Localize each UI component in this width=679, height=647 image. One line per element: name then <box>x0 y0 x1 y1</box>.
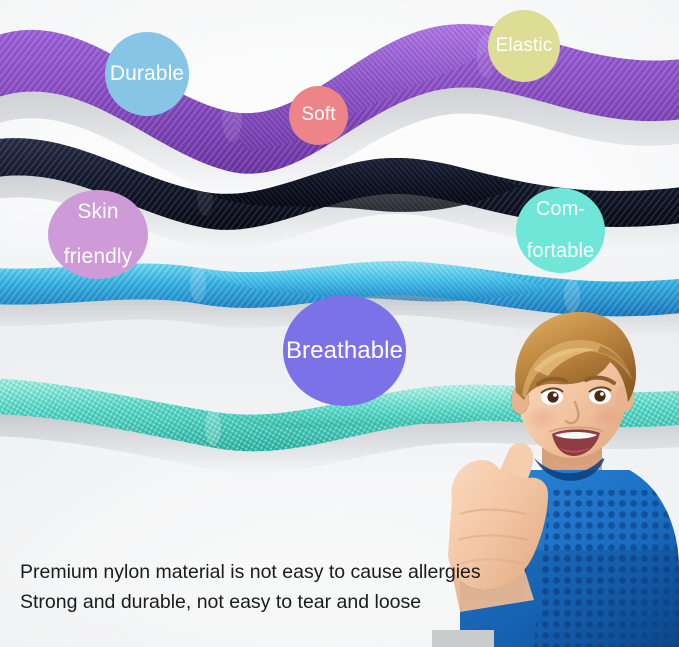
bottom-grey-bar <box>432 630 494 647</box>
badge-label-line-1: Com- <box>524 199 598 220</box>
badge-label-line-1: Skin <box>61 201 136 223</box>
feature-badge-skin-friendly[interactable]: Skin friendly <box>48 190 148 279</box>
product-infographic: Durable Elastic Soft Skin friendly Com- … <box>0 0 679 647</box>
feature-badge-comfortable[interactable]: Com- fortable <box>516 188 605 273</box>
badge-label-line-2: fortable <box>524 241 598 262</box>
feature-badge-soft[interactable]: Soft <box>289 86 348 145</box>
caption-line-1: Premium nylon material is not easy to ca… <box>20 558 490 588</box>
badge-label-line-2: friendly <box>61 246 136 268</box>
badge-label-breathable: Breathable <box>283 338 406 363</box>
feature-badge-elastic[interactable]: Elastic <box>488 10 560 82</box>
badge-label-durable: Durable <box>107 63 187 85</box>
badge-label-skin-friendly: Skin friendly <box>58 201 139 268</box>
badge-label-soft: Soft <box>298 105 338 125</box>
badge-label-comfortable: Com- fortable <box>521 199 601 263</box>
feature-badge-durable[interactable]: Durable <box>105 32 189 116</box>
marketing-caption: Premium nylon material is not easy to ca… <box>20 558 490 617</box>
feature-badge-breathable[interactable]: Breathable <box>283 295 406 406</box>
badge-label-elastic: Elastic <box>493 36 556 56</box>
caption-line-2: Strong and durable, not easy to tear and… <box>20 588 490 618</box>
